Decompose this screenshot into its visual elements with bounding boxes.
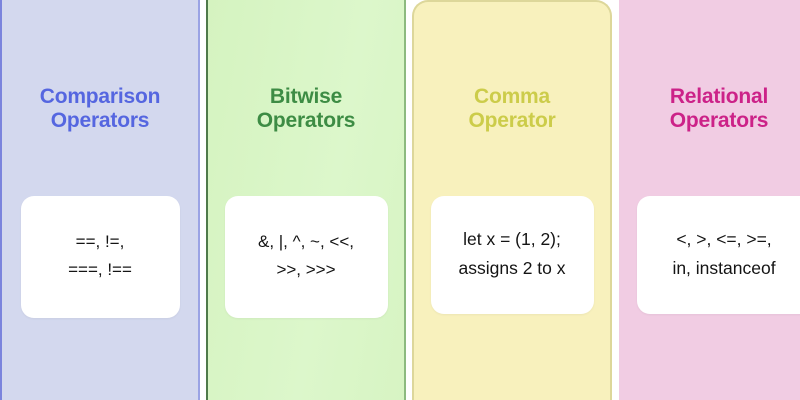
card-bitwise-operators[interactable]: &, |, ^, ~, <<, >>, >>> [225,196,388,318]
column-bitwise-operators[interactable]: Bitwise Operators &, |, ^, ~, <<, >>, >>… [206,0,406,400]
operators-board: Comparison Operators ==, !=, ===, !== Bi… [0,0,800,400]
card-comparison-operators[interactable]: ==, !=, ===, !== [21,196,180,318]
card-text-bitwise-operators: &, |, ^, ~, <<, >>, >>> [258,228,354,283]
card-text-comparison-operators: ==, !=, ===, !== [68,228,132,283]
column-comma-operator[interactable]: Comma Operator let x = (1, 2); assigns 2… [412,0,612,400]
column-title-comparison-operators: Comparison Operators [34,85,167,134]
column-comparison-operators[interactable]: Comparison Operators ==, !=, ===, !== [0,0,200,400]
column-title-bitwise-operators: Bitwise Operators [251,85,362,134]
card-relational-operators[interactable]: <, >, <=, >=, in, instanceof [637,196,800,314]
card-text-relational-operators: <, >, <=, >=, in, instanceof [672,225,775,282]
column-relational-operators[interactable]: Relational Operators <, >, <=, >=, in, i… [619,0,800,400]
card-text-comma-operator: let x = (1, 2); assigns 2 to x [459,225,566,282]
column-title-comma-operator: Comma Operator [462,85,561,134]
column-title-relational-operators: Relational Operators [664,85,775,134]
card-comma-operator[interactable]: let x = (1, 2); assigns 2 to x [431,196,594,314]
